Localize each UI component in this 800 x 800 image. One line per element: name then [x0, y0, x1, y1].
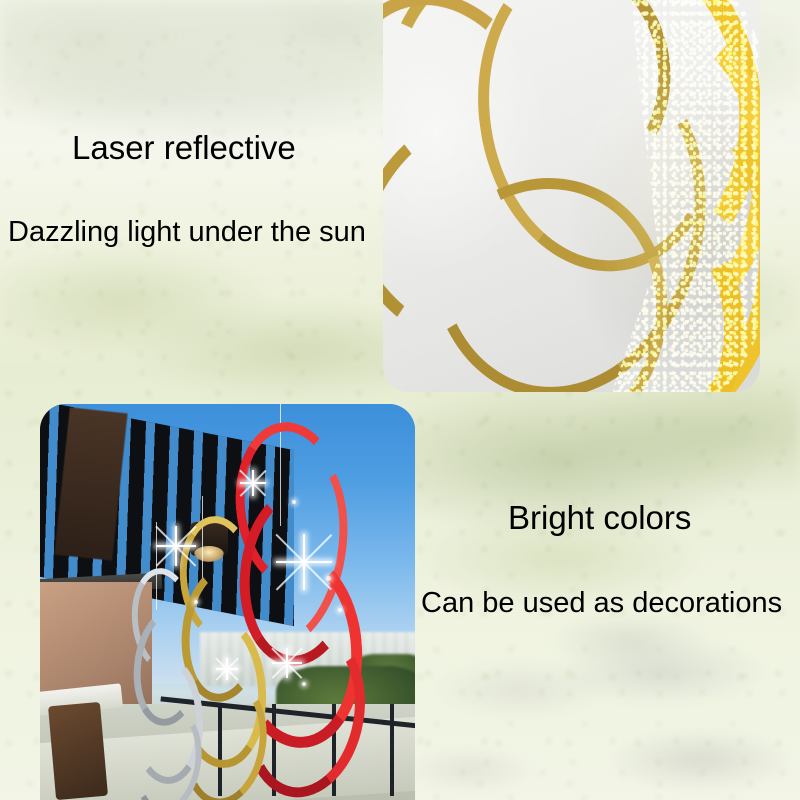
photo-patio-trio	[40, 404, 415, 800]
patio-chair	[48, 702, 108, 800]
gold-glow	[579, 4, 749, 364]
sparkle-dot	[338, 608, 342, 612]
sparkle-dot	[302, 682, 306, 686]
railing-post	[390, 704, 394, 796]
caption-laser-reflective: Laser reflective	[72, 131, 296, 164]
sparkle-dot	[326, 576, 331, 581]
caption-decorations: Can be used as decorations	[421, 589, 782, 618]
photo-gold-closeup	[383, 0, 760, 392]
caption-dazzling-light: Dazzling light under the sun	[8, 218, 366, 247]
caption-bright-colors: Bright colors	[508, 501, 691, 534]
collage-canvas: Laser reflective Dazzling light under th…	[0, 0, 800, 800]
spinner-silver	[132, 568, 198, 800]
sparkle-dot	[292, 500, 296, 504]
sparkle-dot	[194, 600, 198, 604]
